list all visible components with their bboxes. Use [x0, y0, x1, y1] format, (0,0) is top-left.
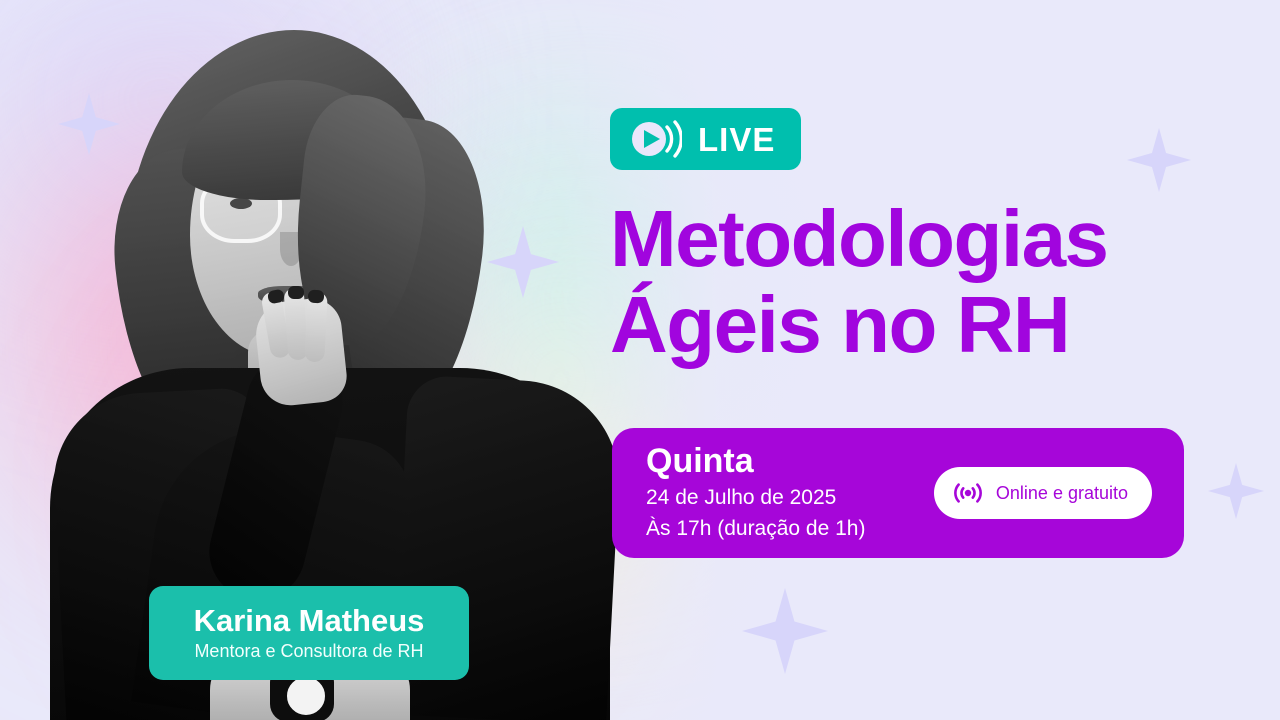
photo-wristwatch-face — [284, 674, 328, 718]
event-weekday: Quinta — [646, 442, 865, 481]
event-details-text: Quinta 24 de Julho de 2025 Às 17h (duraç… — [646, 442, 865, 543]
photo-fingernail — [288, 286, 304, 299]
event-details-card: Quinta 24 de Julho de 2025 Às 17h (duraç… — [612, 428, 1184, 558]
live-event-banner: Karina Matheus Mentora e Consultora de R… — [0, 0, 1280, 720]
speaker-name: Karina Matheus — [194, 604, 425, 638]
event-time: Às 17h (duração de 1h) — [646, 515, 865, 544]
speaker-role: Mentora e Consultora de RH — [194, 642, 423, 662]
event-date: 24 de Julho de 2025 — [646, 484, 865, 513]
content-column: LIVE Metodologias Ágeis no RH Quinta 24 … — [610, 0, 1210, 720]
live-badge: LIVE — [610, 108, 801, 170]
page-title-line-1: Metodologias — [610, 196, 1210, 282]
broadcast-signal-icon — [952, 479, 984, 507]
page-title-line-2: Ágeis no RH — [610, 282, 1210, 368]
online-free-pill: Online e gratuito — [934, 467, 1152, 519]
page-title: Metodologias Ágeis no RH — [610, 196, 1210, 369]
live-badge-label: LIVE — [698, 123, 775, 156]
live-broadcast-icon — [630, 120, 682, 158]
speaker-card: Karina Matheus Mentora e Consultora de R… — [149, 586, 469, 680]
online-free-label: Online e gratuito — [996, 484, 1128, 502]
photo-fingernail — [308, 289, 325, 303]
